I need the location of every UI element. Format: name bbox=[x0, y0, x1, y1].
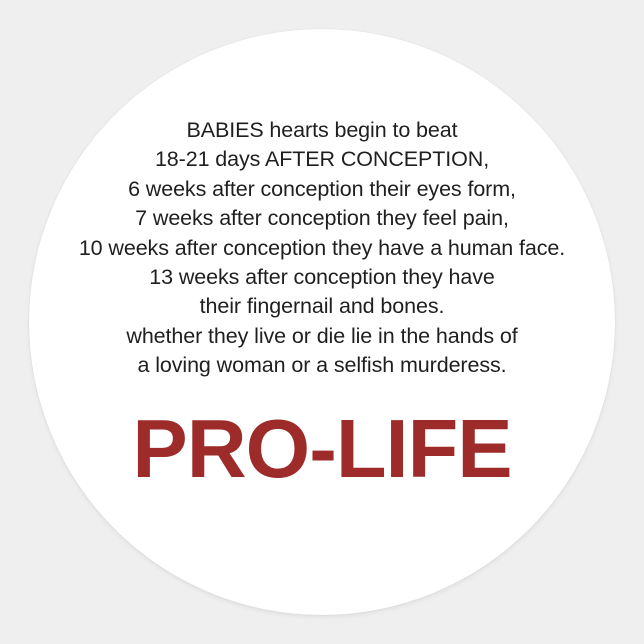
message-line-7: their fingernail and bones. bbox=[12, 292, 632, 321]
sticker-content: BABIES hearts begin to beat 18-21 days A… bbox=[0, 0, 644, 644]
message-line-8: whether they live or die lie in the hand… bbox=[12, 322, 632, 351]
message-line-1: BABIES hearts begin to beat bbox=[12, 116, 632, 145]
message-block: BABIES hearts begin to beat 18-21 days A… bbox=[12, 116, 632, 381]
message-line-4: 7 weeks after conception they feel pain, bbox=[12, 204, 632, 233]
headline-pro-life: PRO-LIFE bbox=[132, 407, 511, 490]
sticker-canvas: BABIES hearts begin to beat 18-21 days A… bbox=[0, 0, 644, 644]
message-line-3: 6 weeks after conception their eyes form… bbox=[12, 175, 632, 204]
message-line-5: 10 weeks after conception they have a hu… bbox=[12, 234, 632, 263]
message-line-9: a loving woman or a selfish murderess. bbox=[12, 351, 632, 380]
message-line-6: 13 weeks after conception they have bbox=[12, 263, 632, 292]
message-line-2: 18-21 days AFTER CONCEPTION, bbox=[12, 145, 632, 174]
